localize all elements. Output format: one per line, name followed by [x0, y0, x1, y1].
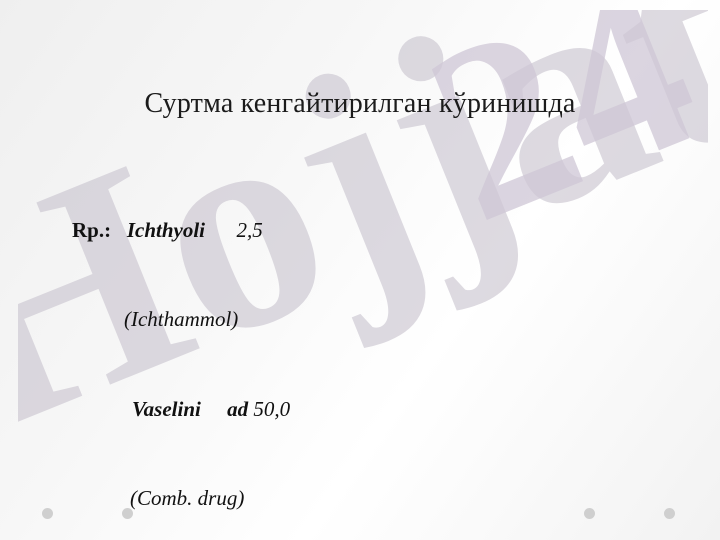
ingredient-1-name: Ichthyoli: [127, 218, 205, 242]
decorative-dot-row: [0, 508, 720, 522]
decorative-dot: [122, 508, 133, 519]
prescription-line-vaselini: Vaselini ad 50,0: [90, 365, 690, 454]
ingredient-2-name: Vaselini: [132, 397, 201, 421]
prescription-block: Rp.: Ichthyoli 2,5 (Ichthammol) Vaselini…: [30, 186, 690, 540]
ingredient-1-quantity: 2,5: [237, 218, 263, 242]
slide-canvas: Hojjat 24 Суртма кенгайтирилган кўринишд…: [0, 0, 720, 540]
ingredient-1-alt-name: (Ichthammol): [124, 307, 238, 331]
decorative-dot: [584, 508, 595, 519]
ingredient-2-ad: ad: [227, 397, 248, 421]
prescription-line-ichthammol: (Ichthammol): [82, 275, 690, 364]
decorative-dot: [664, 508, 675, 519]
prescription-line-rp: Rp.: Ichthyoli 2,5: [30, 186, 690, 275]
ingredient-2-quantity: 50,0: [253, 397, 290, 421]
prescription-line-comb-drug: (Comb. drug): [88, 454, 690, 540]
ingredient-2-alt-name: (Comb. drug): [130, 486, 244, 510]
slide-content: Суртма кенгайтирилган кўринишда Rp.: Ich…: [0, 0, 720, 540]
slide-title: Суртма кенгайтирилган кўринишда: [0, 88, 720, 120]
rp-label: Rp.:: [72, 218, 111, 242]
decorative-dot: [42, 508, 53, 519]
